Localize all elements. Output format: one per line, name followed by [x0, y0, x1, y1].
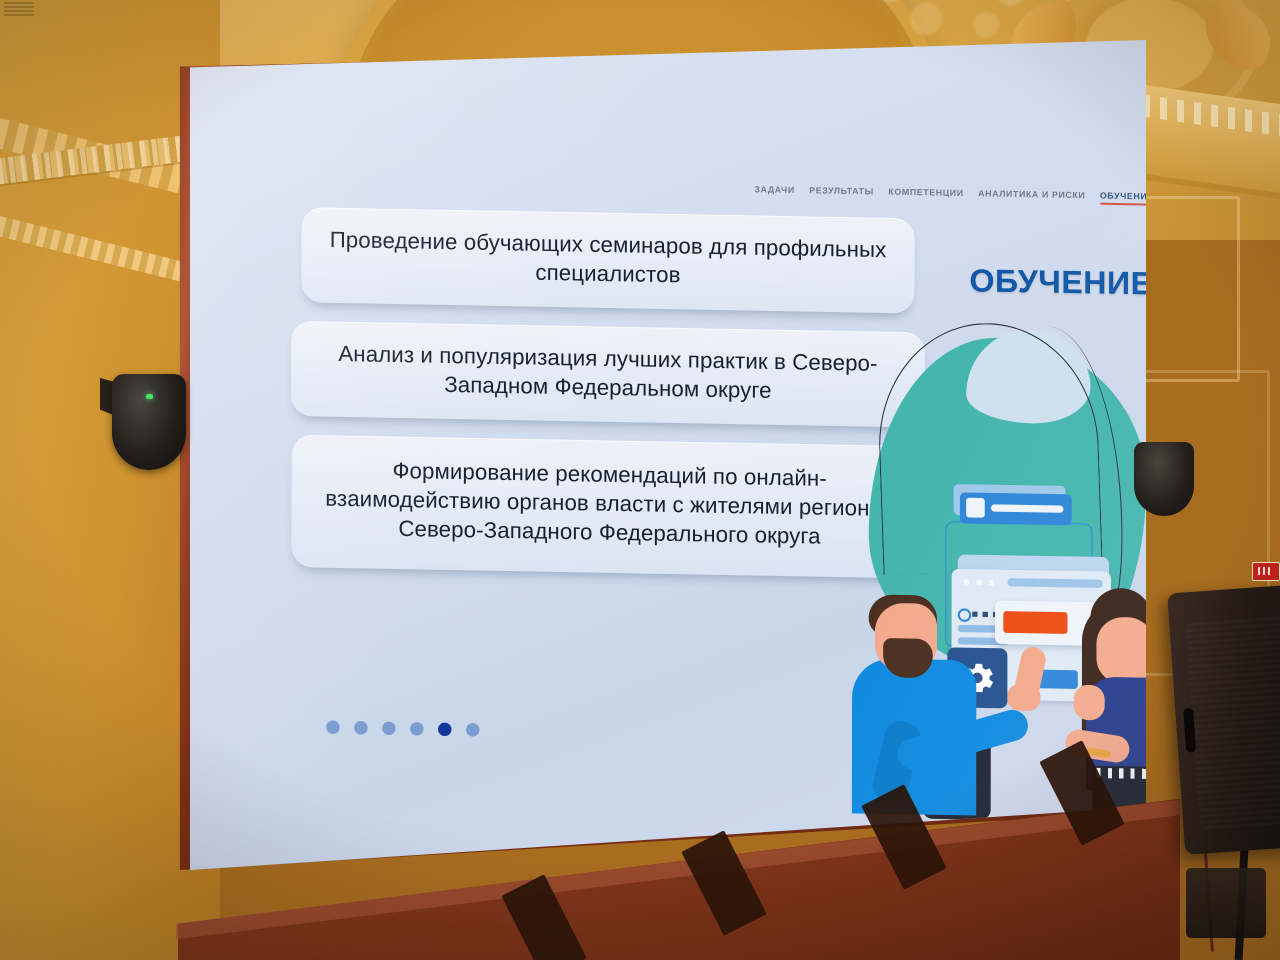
slide-illustration: [842, 317, 1146, 809]
bullet-box: Формирование рекомендаций по онлайн-взаи…: [291, 434, 927, 578]
nav-item-kompetencii[interactable]: КОМПЕТЕНЦИИ: [888, 186, 963, 201]
window-dots: [964, 579, 999, 585]
screen-surface: ЗАДАЧИ РЕЗУЛЬТАТЫ КОМПЕТЕНЦИИ АНАЛИТИКА …: [190, 40, 1146, 870]
window-title-bar: [1007, 578, 1102, 588]
pagination-dot[interactable]: [382, 721, 395, 735]
speaker-grille: [1185, 614, 1280, 830]
projection-screen: ЗАДАЧИ РЕЗУЛЬТАТЫ КОМПЕТЕНЦИИ АНАЛИТИКА …: [176, 40, 1146, 870]
woman-face: [1096, 617, 1146, 684]
ui-card-front: [960, 492, 1072, 525]
submit-button: [1003, 611, 1067, 634]
card-text-line: [991, 504, 1063, 512]
ptz-dome-camera-right: [1134, 442, 1194, 516]
pagination-dot[interactable]: [466, 723, 479, 737]
chair: [1186, 868, 1266, 938]
pa-loudspeaker: [1167, 583, 1280, 855]
emergency-exit-sign: [1252, 562, 1280, 581]
camera-led-icon: [146, 394, 153, 399]
nav-item-obuchenie[interactable]: ОБУЧЕНИЕ: [1100, 190, 1146, 204]
pagination-dot-active[interactable]: [438, 722, 451, 736]
slide-pagination[interactable]: [326, 720, 479, 736]
nav-item-analitika-i-riski[interactable]: АНАЛИТИКА И РИСКИ: [978, 188, 1085, 203]
slide-bullet-boxes: Проведение обучающих семинаров для профи…: [281, 207, 905, 597]
presentation-slide: ЗАДАЧИ РЕЗУЛЬТАТЫ КОМПЕТЕНЦИИ АНАЛИТИКА …: [190, 40, 1146, 870]
man-beard: [883, 638, 933, 678]
ptz-dome-camera-left: [100, 372, 186, 476]
camera-dome: [1134, 442, 1194, 516]
camera-dome: [112, 374, 186, 470]
slide-title: ОБУЧЕНИЕ: [969, 262, 1146, 302]
nav-item-rezultaty[interactable]: РЕЗУЛЬТАТЫ: [809, 185, 874, 200]
pagination-dot[interactable]: [410, 722, 423, 736]
ceiling-vent: [4, 2, 34, 16]
nav-item-zadachi[interactable]: ЗАДАЧИ: [754, 184, 794, 198]
user-icon: [958, 608, 971, 622]
slide-nav: ЗАДАЧИ РЕЗУЛЬТАТЫ КОМПЕТЕНЦИИ АНАЛИТИКА …: [754, 184, 1146, 206]
woman-hand: [1074, 685, 1105, 721]
card-thumbnail: [966, 498, 985, 518]
pagination-dot[interactable]: [354, 721, 367, 735]
photo-of-presentation-screen: ЗАДАЧИ РЕЗУЛЬТАТЫ КОМПЕТЕНЦИИ АНАЛИТИКА …: [0, 0, 1280, 960]
bullet-box: Проведение обучающих семинаров для профи…: [301, 207, 914, 313]
bullet-box: Анализ и популяризация лучших практик в …: [291, 321, 925, 428]
pagination-dot[interactable]: [326, 720, 339, 734]
